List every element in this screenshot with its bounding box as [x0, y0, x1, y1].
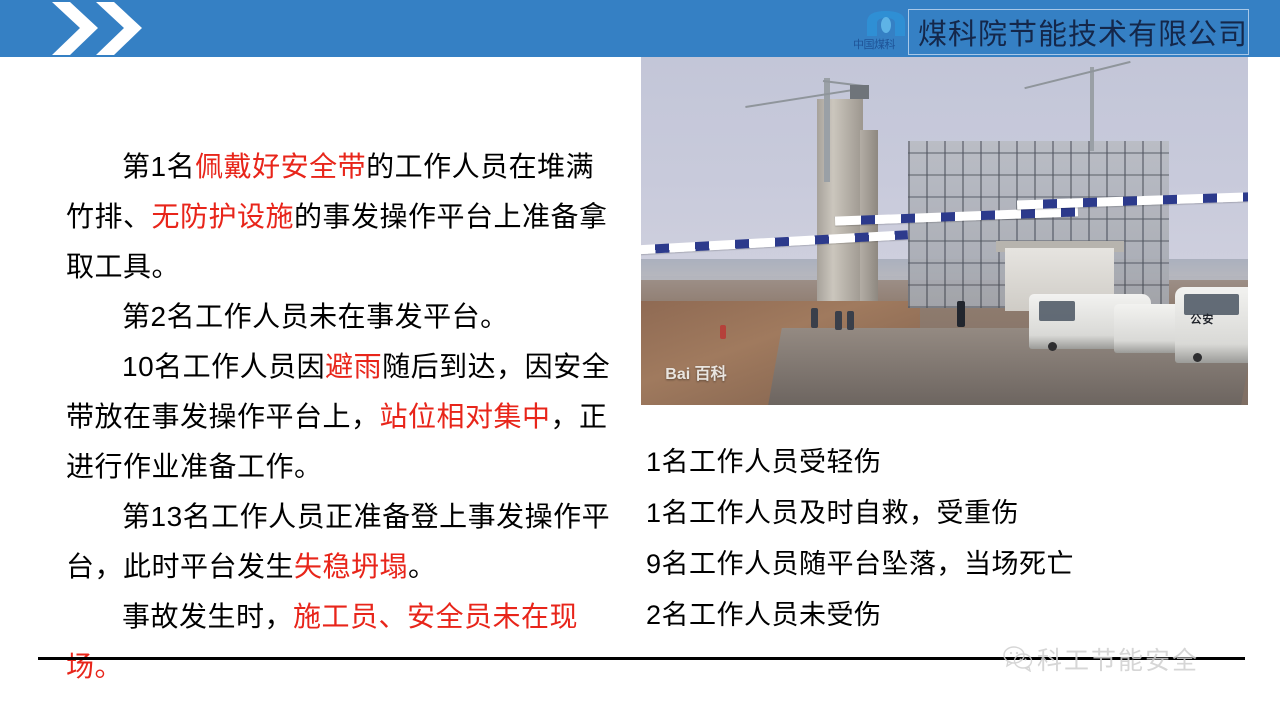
- casualty-item-4: 2名工作人员未受伤: [646, 590, 1246, 641]
- header-band: 中国煤科 煤科院节能技术有限公司: [0, 0, 1280, 57]
- baidu-watermark-text: Bai 百科: [665, 360, 726, 384]
- footer-watermark: 科工节能安全: [1003, 641, 1199, 677]
- text-seg: 事故发生时，: [122, 601, 293, 632]
- wechat-icon: [1003, 646, 1033, 672]
- slide-root: 中国煤科 煤科院节能技术有限公司: [0, 0, 1280, 720]
- body-text: 第1名佩戴好安全带的工作人员在堆满竹排、无防护设施的事发操作平台上准备拿取工具。…: [66, 142, 611, 692]
- paragraph-4: 第13名工作人员正准备登上事发操作平台，此时平台发生失稳坍塌。: [66, 492, 611, 592]
- double-chevron-right-icon: [52, 2, 98, 55]
- text-seg-red: 避雨: [325, 351, 382, 382]
- photo-person-4: [957, 301, 965, 327]
- text-seg: 10名工作人员因: [122, 351, 325, 382]
- text-seg-red: 无防护设施: [152, 201, 295, 232]
- photo-crane-counterweight: [850, 85, 868, 99]
- photo-person-3: [847, 311, 854, 330]
- chevron-decoration: [52, 0, 182, 57]
- paragraph-1: 第1名佩戴好安全带的工作人员在堆满竹排、无防护设施的事发操作平台上准备拿取工具。: [66, 142, 611, 292]
- casualty-list: 1名工作人员受轻伤 1名工作人员及时自救，受重伤 9名工作人员随平台坠落，当场死…: [646, 437, 1246, 641]
- photo-person-5: [720, 325, 726, 339]
- photo-person-2: [835, 311, 842, 330]
- photo-van-wheel: [1048, 342, 1057, 351]
- casualty-item-1: 1名工作人员受轻伤: [646, 437, 1246, 488]
- text-seg-red: 站位相对集中: [380, 401, 551, 432]
- baidu-watermark: Bai 百科: [665, 360, 726, 384]
- casualty-item-2: 1名工作人员及时自救，受重伤: [646, 488, 1246, 539]
- company-title: 煤科院节能技术有限公司: [909, 11, 1248, 53]
- text-seg-red: 失稳坍塌: [294, 551, 408, 582]
- footer-watermark-text: 科工节能安全: [1037, 641, 1199, 677]
- paragraph-3: 10名工作人员因避雨随后到达，因安全带放在事发操作平台上，站位相对集中，正进行作…: [66, 342, 611, 492]
- paragraph-5: 事故发生时，施工员、安全员未在现场。: [66, 592, 611, 692]
- casualty-item-3: 9名工作人员随平台坠落，当场死亡: [646, 539, 1246, 590]
- text-seg: 。: [408, 551, 437, 582]
- text-seg: 第2名工作人员未在事发平台。: [122, 301, 509, 332]
- police-van-label: 公安: [1190, 311, 1214, 327]
- company-title-box: 煤科院节能技术有限公司: [908, 9, 1249, 55]
- paragraph-2: 第2名工作人员未在事发平台。: [66, 292, 611, 342]
- photo-person: [811, 308, 818, 328]
- photo-crane-2-mast: [1090, 67, 1094, 151]
- text-seg-red: 佩戴好安全带: [195, 151, 366, 182]
- accident-site-photo: 公安 Bai 百科: [641, 57, 1248, 405]
- double-chevron-right-icon-2: [96, 2, 142, 55]
- photo-van-window: [1039, 301, 1075, 322]
- coal-science-emblem-icon: [861, 8, 911, 38]
- text-seg: 第1名: [122, 151, 195, 182]
